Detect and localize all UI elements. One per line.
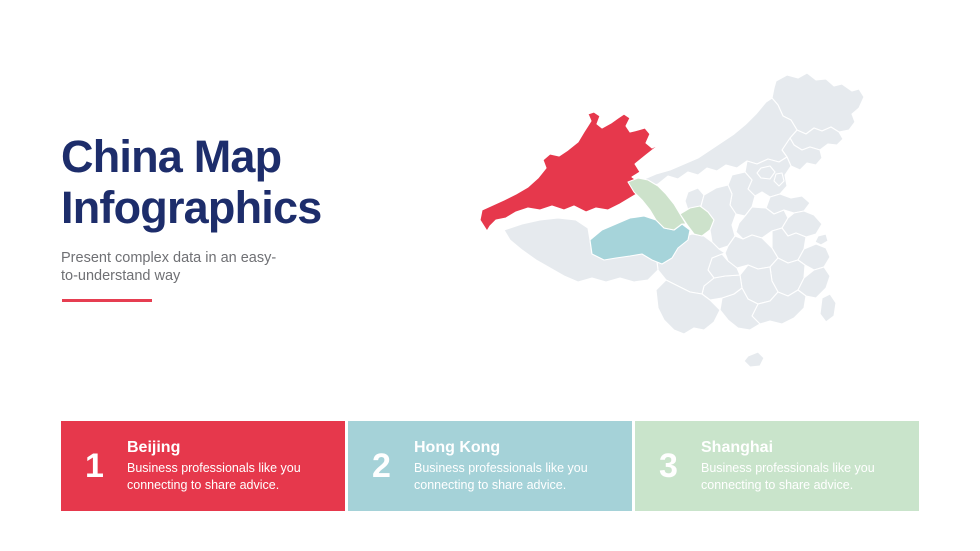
city-card-body: Shanghai Business professionals like you… <box>697 438 875 494</box>
page-title: China Map Infographics <box>61 131 391 233</box>
map-region-hubei[interactable] <box>725 235 778 269</box>
headline-block: China Map Infographics Present complex d… <box>61 131 391 285</box>
city-card-title: Beijing <box>127 438 301 458</box>
city-card-number: 1 <box>85 449 123 483</box>
city-card-beijing[interactable]: 1 Beijing Business professionals like yo… <box>61 421 345 511</box>
city-card-description: Business professionals like you connecti… <box>414 460 588 494</box>
map-region-hainan[interactable] <box>744 352 764 367</box>
city-card-title: Hong Kong <box>414 438 588 458</box>
china-map-svg <box>460 58 950 408</box>
map-region-jiangsu[interactable] <box>782 211 822 237</box>
city-card-description: Business professionals like you connecti… <box>127 460 301 494</box>
map-region-shanghai[interactable] <box>815 234 828 245</box>
city-card-shanghai[interactable]: 3 Shanghai Business professionals like y… <box>635 421 919 511</box>
city-card-title: Shanghai <box>701 438 875 458</box>
city-card-hong-kong[interactable]: 2 Hong Kong Business professionals like … <box>348 421 632 511</box>
city-cards-row: 1 Beijing Business professionals like yo… <box>61 421 919 511</box>
city-card-body: Hong Kong Business professionals like yo… <box>410 438 588 494</box>
city-card-number: 3 <box>659 449 697 483</box>
slide-canvas: China Map Infographics Present complex d… <box>0 0 980 551</box>
map-region-taiwan[interactable] <box>820 294 836 322</box>
map-region-jilin[interactable] <box>790 127 843 150</box>
china-map-container <box>460 58 950 408</box>
city-card-body: Beijing Business professionals like you … <box>123 438 301 494</box>
accent-rule-divider <box>62 299 152 302</box>
city-card-description: Business professionals like you connecti… <box>701 460 875 494</box>
page-subtitle: Present complex data in an easy- to-unde… <box>61 233 311 285</box>
city-card-number: 2 <box>372 449 410 483</box>
map-region-xinjiang-highlight[interactable] <box>480 112 660 231</box>
